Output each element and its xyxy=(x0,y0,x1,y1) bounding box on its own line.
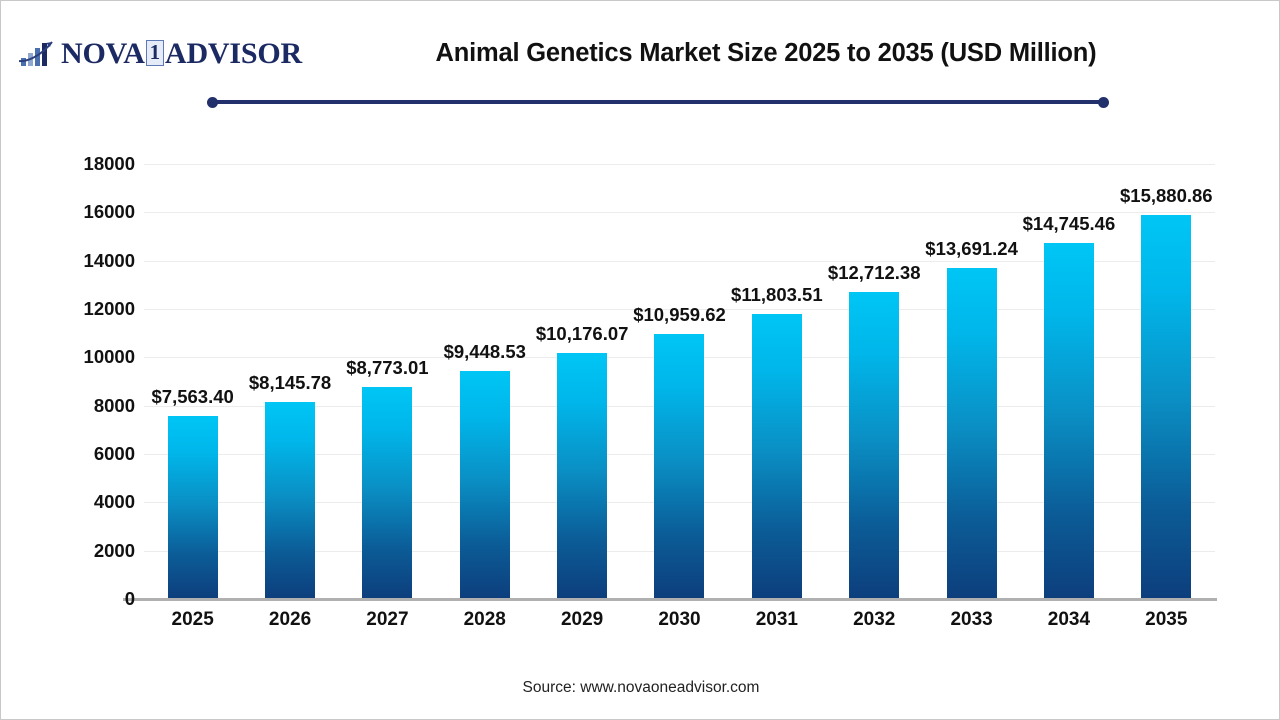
bar-group: $8,145.78 xyxy=(241,164,338,599)
bar-group: $9,448.53 xyxy=(436,164,533,599)
bar-group: $14,745.46 xyxy=(1020,164,1117,599)
bar[interactable] xyxy=(947,268,997,599)
bar-group: $11,803.51 xyxy=(728,164,825,599)
bar-value-label: $8,773.01 xyxy=(346,357,428,379)
bar-value-label: $9,448.53 xyxy=(444,341,526,363)
bar[interactable] xyxy=(460,371,510,599)
x-axis-tick-label: 2031 xyxy=(728,609,825,631)
y-axis-tick-label: 8000 xyxy=(15,395,135,417)
bar-value-label: $10,959.62 xyxy=(633,304,726,326)
x-axis-tick-label: 2035 xyxy=(1118,609,1215,631)
bar-value-label: $10,176.07 xyxy=(536,323,629,345)
x-axis-tick-label: 2026 xyxy=(241,609,338,631)
bar-group: $13,691.24 xyxy=(923,164,1020,599)
bar-value-label: $13,691.24 xyxy=(925,238,1018,260)
bar-value-label: $15,880.86 xyxy=(1120,185,1213,207)
bar-value-label: $11,803.51 xyxy=(731,284,823,306)
source-note: Source: www.novaoneadvisor.com xyxy=(1,679,1280,697)
x-axis-tick-label: 2029 xyxy=(533,609,630,631)
y-axis-tick-label: 2000 xyxy=(15,540,135,562)
bar-value-label: $14,745.46 xyxy=(1023,213,1116,235)
bar-group: $10,176.07 xyxy=(533,164,630,599)
y-axis-tick-label: 0 xyxy=(15,588,135,610)
x-axis-baseline xyxy=(123,598,1217,601)
chart-page: NOVA1ADVISOR Animal Genetics Market Size… xyxy=(0,0,1280,720)
x-axis-tick-label: 2032 xyxy=(826,609,923,631)
bar-chart: $7,563.40$8,145.78$8,773.01$9,448.53$10,… xyxy=(1,1,1280,720)
bar[interactable] xyxy=(1044,243,1094,599)
x-axis-tick-label: 2028 xyxy=(436,609,533,631)
bar[interactable] xyxy=(752,314,802,599)
y-axis-tick-label: 6000 xyxy=(15,443,135,465)
bar[interactable] xyxy=(362,387,412,599)
x-axis-tick-label: 2027 xyxy=(339,609,436,631)
bar-group: $10,959.62 xyxy=(631,164,728,599)
bar[interactable] xyxy=(1141,215,1191,599)
bar-group: $15,880.86 xyxy=(1118,164,1215,599)
bar-value-label: $7,563.40 xyxy=(152,386,234,408)
y-axis-tick-label: 14000 xyxy=(15,250,135,272)
bar[interactable] xyxy=(849,292,899,599)
plot-area: $7,563.40$8,145.78$8,773.01$9,448.53$10,… xyxy=(144,164,1215,599)
x-axis-tick-label: 2034 xyxy=(1020,609,1117,631)
x-axis-tick-label: 2030 xyxy=(631,609,728,631)
y-axis-tick-label: 18000 xyxy=(15,153,135,175)
y-axis-tick-label: 4000 xyxy=(15,491,135,513)
y-axis-tick-label: 16000 xyxy=(15,201,135,223)
bar-value-label: $12,712.38 xyxy=(828,262,921,284)
x-axis-tick-label: 2025 xyxy=(144,609,241,631)
bar[interactable] xyxy=(265,402,315,599)
bar[interactable] xyxy=(557,353,607,599)
y-axis-tick-label: 10000 xyxy=(15,346,135,368)
bar-group: $7,563.40 xyxy=(144,164,241,599)
bar[interactable] xyxy=(654,334,704,599)
bar-value-label: $8,145.78 xyxy=(249,372,331,394)
bar[interactable] xyxy=(168,416,218,599)
bar-group: $12,712.38 xyxy=(826,164,923,599)
x-axis-tick-label: 2033 xyxy=(923,609,1020,631)
bar-group: $8,773.01 xyxy=(339,164,436,599)
y-axis-tick-label: 12000 xyxy=(15,298,135,320)
